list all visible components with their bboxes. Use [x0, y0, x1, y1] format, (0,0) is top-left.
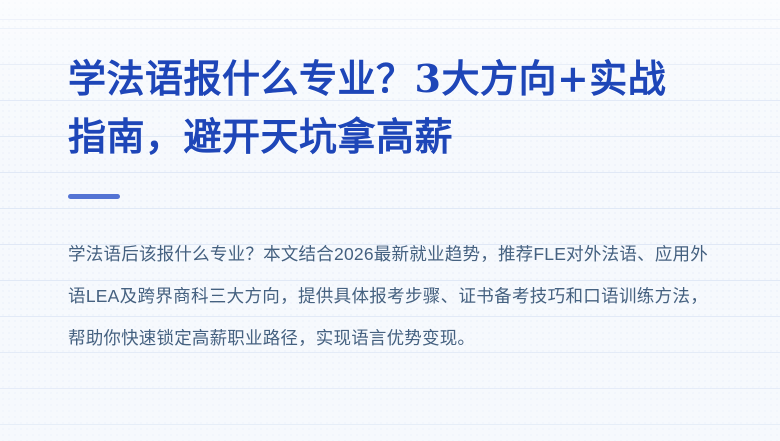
title-accent-divider [68, 194, 120, 199]
article-summary: 学法语后该报什么专业？本文结合2026最新就业趋势，推荐FLE对外法语、应用外语… [68, 233, 708, 359]
cover-content: 学法语报什么专业？3大方向+实战 指南，避开天坑拿高薪 学法语后该报什么专业？本… [68, 0, 728, 441]
article-cover-card: 学法语报什么专业？3大方向+实战 指南，避开天坑拿高薪 学法语后该报什么专业？本… [0, 0, 780, 441]
page-title: 学法语报什么专业？3大方向+实战 指南，避开天坑拿高薪 [68, 50, 716, 166]
